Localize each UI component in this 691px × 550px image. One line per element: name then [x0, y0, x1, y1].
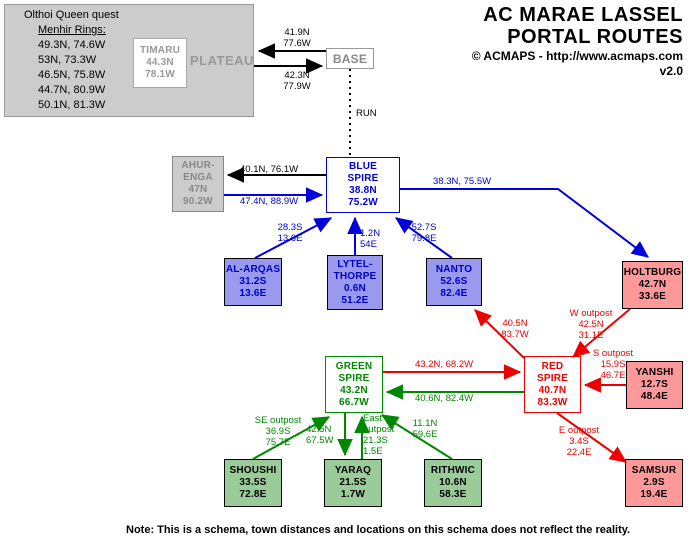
menhir-ring-2: 53N, 73.3W — [38, 53, 119, 68]
title-version: v2.0 — [283, 64, 683, 78]
node-red-spire-lon: 83.3W — [538, 397, 568, 409]
node-timaru-name: TIMARU — [140, 45, 180, 57]
node-lytelthorpe-lon: 51.2E — [341, 295, 368, 307]
plateau-label: PLATEAU — [190, 53, 254, 68]
node-holtburg[interactable]: HOLTBURG 42.7N 33.6E — [622, 261, 683, 309]
label-red-to-nanto: 40.5N 83.7W — [494, 318, 536, 340]
footer-note: Note: This is a schema, town distances a… — [126, 524, 630, 536]
title-line-1: AC MARAE LASSEL — [283, 4, 683, 26]
node-rithwic[interactable]: RITHWIC 10.6N 58.3E — [424, 459, 482, 507]
menhir-ring-4: 44.7N, 80.9W — [38, 83, 119, 98]
node-samsur-lon: 19.4E — [640, 489, 667, 501]
label-red-to-nanto-l2: 83.7W — [494, 329, 536, 340]
label-yaraq-up-l1: 42.5N — [306, 424, 333, 435]
label-e-outpost-l1: E outpost — [550, 425, 608, 436]
menhir-ring-1: 49.3N, 74.6W — [38, 38, 119, 53]
label-e-outpost-l2: 3.4S — [550, 436, 608, 447]
node-yanshi-lat: 12.7S — [641, 379, 668, 391]
label-se-outpost-l3: 75.7E — [245, 437, 311, 448]
node-al-arqas-name: AL-ARQAS — [226, 264, 280, 276]
node-rithwic-lon: 58.3E — [439, 489, 466, 501]
label-rithwic-up: 11.1N 59.6E — [404, 418, 446, 440]
node-timaru-lon: 78.1W — [145, 69, 175, 81]
node-red-spire[interactable]: RED SPIRE 40.7N 83.3W — [524, 356, 581, 413]
node-ahurenga-lat: 47N — [189, 184, 208, 196]
quest-title: Olthoi Queen quest — [24, 9, 119, 21]
label-s-outpost-l3: 46.7E — [586, 370, 640, 381]
node-shoushi-lat: 33.5S — [239, 477, 266, 489]
node-samsur-lat: 2.9S — [643, 477, 664, 489]
node-nanto-lon: 82.4E — [440, 288, 467, 300]
node-red-spire-name2: SPIRE — [537, 373, 568, 385]
node-green-spire-lat: 43.2N — [340, 385, 368, 397]
label-base-in-l2: 77.9W — [274, 81, 320, 92]
menhir-ring-5: 50.1N, 81.3W — [38, 98, 119, 113]
label-yaraq-up: 42.5N 67.5W — [306, 424, 333, 446]
label-w-outpost: W outpost 42.5N 31.1E — [560, 308, 622, 341]
node-green-spire-lon: 66.7W — [339, 397, 369, 409]
quest-subtitle: Menhir Rings: — [38, 23, 119, 38]
node-holtburg-lat: 42.7N — [639, 279, 667, 291]
node-yaraq-lon: 1.7W — [341, 489, 365, 501]
label-nanto-up-l1: 52.7S — [404, 222, 444, 233]
node-ahurenga-lon: 90.2W — [183, 196, 213, 208]
label-alarqas-up: 28.3S 13.6E — [270, 222, 310, 244]
label-rithwic-up-l1: 11.1N — [404, 418, 446, 429]
node-al-arqas[interactable]: AL-ARQAS 31.2S 13.6E — [224, 258, 282, 306]
label-red-to-green: 40.6N, 82.4W — [415, 393, 473, 404]
node-timaru-lat: 44.3N — [146, 57, 174, 69]
node-red-spire-name1: RED — [542, 361, 564, 373]
label-nanto-up: 52.7S 79.8E — [404, 222, 444, 244]
node-lytelthorpe-lat: 0.6N — [344, 283, 366, 295]
node-ahurenga-name1: AHUR- — [181, 160, 214, 172]
node-lytelthorpe[interactable]: LYTEL- THORPE 0.6N 51.2E — [327, 255, 383, 310]
node-yanshi-name: YANSHI — [635, 367, 673, 379]
label-lytel-up: 1.2N 54E — [360, 228, 380, 250]
title-credit: © ACMAPS - http://www.acmaps.com — [283, 48, 683, 64]
node-blue-spire-name1: BLUE — [349, 161, 377, 173]
label-w-outpost-l2: 42.5N — [560, 319, 622, 330]
node-yaraq-name: YARAQ — [335, 465, 371, 477]
node-green-spire[interactable]: GREEN SPIRE 43.2N 66.7W — [325, 356, 383, 413]
node-nanto-lat: 52.6S — [440, 276, 467, 288]
label-s-outpost-l2: 15.9S — [586, 359, 640, 370]
node-rithwic-name: RITHWIC — [431, 465, 475, 477]
node-yanshi-lon: 48.4E — [641, 391, 668, 403]
page-title: AC MARAE LASSEL PORTAL ROUTES © ACMAPS -… — [283, 4, 683, 78]
diagram-canvas: Olthoi Queen quest Menhir Rings: 49.3N, … — [0, 0, 691, 550]
node-blue-spire[interactable]: BLUE SPIRE 38.8N 75.2W — [326, 157, 400, 213]
node-lytelthorpe-name1: LYTEL- — [337, 259, 372, 271]
label-se-outpost-l1: SE outpost — [245, 415, 311, 426]
label-green-to-red: 43.2N, 68.2W — [415, 359, 473, 370]
label-yaraq-up-l2: 67.5W — [306, 435, 333, 446]
node-nanto-name: NANTO — [436, 264, 472, 276]
label-alarqas-up-l2: 13.6E — [270, 233, 310, 244]
label-east-outpost-l1: East — [363, 413, 394, 424]
node-blue-spire-lat: 38.8N — [349, 185, 377, 197]
label-w-outpost-l3: 31.1E — [560, 330, 622, 341]
label-rithwic-up-l2: 59.6E — [404, 429, 446, 440]
label-e-outpost-l3: 22.4E — [550, 447, 608, 458]
label-ahurenga-to-blue: 40.1N, 76.1W — [240, 164, 298, 175]
label-w-outpost-l1: W outpost — [560, 308, 622, 319]
title-line-2: PORTAL ROUTES — [283, 26, 683, 48]
node-holtburg-name: HOLTBURG — [624, 267, 682, 279]
menhir-ring-3: 46.5N, 75.8W — [38, 68, 119, 83]
label-east-outpost: East outpost 21.3S 1.5E — [363, 413, 394, 457]
node-lytelthorpe-name2: THORPE — [334, 271, 377, 283]
node-samsur-name: SAMSUR — [632, 465, 677, 477]
node-red-spire-lat: 40.7N — [539, 385, 567, 397]
node-yaraq-lat: 21.5S — [339, 477, 366, 489]
node-shoushi-name: SHOUSHI — [230, 465, 277, 477]
label-s-outpost-l1: S outpost — [586, 348, 640, 359]
node-samsur[interactable]: SAMSUR 2.9S 19.4E — [625, 459, 683, 507]
node-blue-spire-lon: 75.2W — [348, 197, 378, 209]
node-holtburg-lon: 33.6E — [639, 291, 666, 303]
quest-panel-text: Olthoi Queen quest Menhir Rings: 49.3N, … — [24, 8, 119, 113]
node-shoushi-lon: 72.8E — [239, 489, 266, 501]
label-blue-to-holtburg: 38.3N, 75.5W — [433, 176, 491, 187]
node-green-spire-name1: GREEN — [336, 361, 373, 373]
label-lytel-up-l1: 1.2N — [360, 228, 380, 239]
label-e-outpost: E outpost 3.4S 22.4E — [550, 425, 608, 458]
node-yaraq[interactable]: YARAQ 21.5S 1.7W — [324, 459, 382, 507]
label-nanto-up-l2: 79.8E — [404, 233, 444, 244]
node-green-spire-name2: SPIRE — [338, 373, 369, 385]
label-east-outpost-l4: 1.5E — [363, 446, 394, 457]
label-alarqas-up-l1: 28.3S — [270, 222, 310, 233]
label-run: RUN — [356, 108, 377, 119]
node-nanto[interactable]: NANTO 52.6S 82.4E — [426, 258, 482, 306]
label-east-outpost-l3: 21.3S — [363, 435, 394, 446]
label-blue-to-ahurenga: 47.4N, 88.9W — [240, 196, 298, 207]
node-blue-spire-name2: SPIRE — [347, 173, 378, 185]
node-rithwic-lat: 10.6N — [439, 477, 467, 489]
label-s-outpost: S outpost 15.9S 46.7E — [586, 348, 640, 381]
node-shoushi[interactable]: SHOUSHI 33.5S 72.8E — [224, 459, 282, 507]
node-ahurenga-name2: ENGA — [183, 172, 213, 184]
node-timaru[interactable]: TIMARU 44.3N 78.1W — [133, 38, 187, 88]
label-se-outpost-l2: 36.9S — [245, 426, 311, 437]
label-east-outpost-l2: outpost — [363, 424, 394, 435]
node-al-arqas-lon: 13.6E — [239, 288, 266, 300]
label-se-outpost: SE outpost 36.9S 75.7E — [245, 415, 311, 448]
node-al-arqas-lat: 31.2S — [239, 276, 266, 288]
node-ahurenga[interactable]: AHUR- ENGA 47N 90.2W — [172, 156, 224, 212]
label-red-to-nanto-l1: 40.5N — [494, 318, 536, 329]
label-lytel-up-l2: 54E — [360, 239, 380, 250]
